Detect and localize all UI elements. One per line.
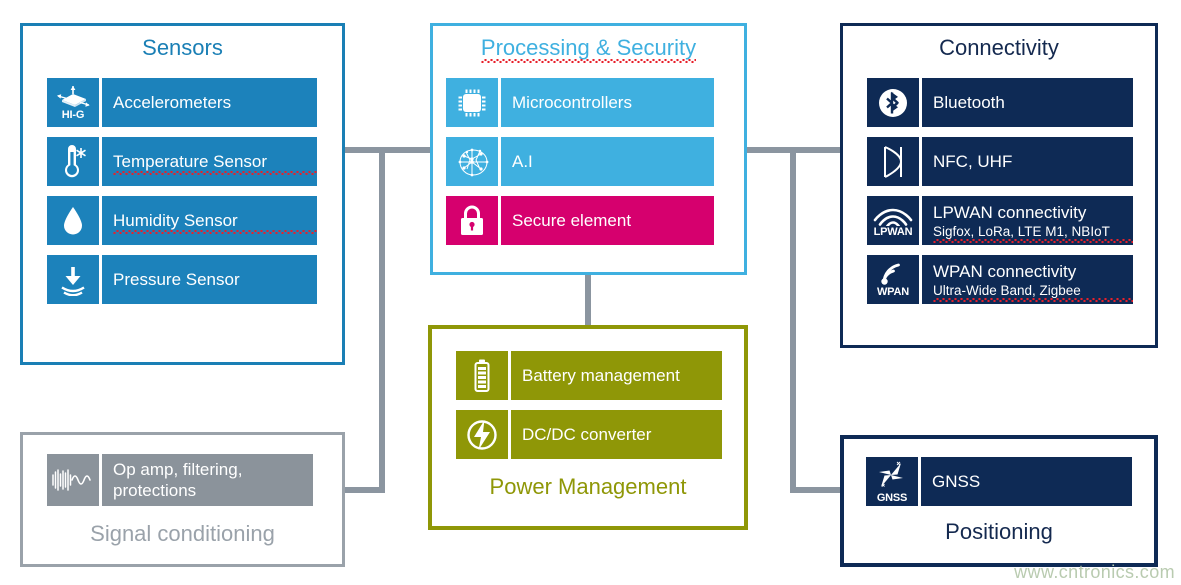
- sensors-title: Sensors: [142, 35, 223, 60]
- row-primary-label: Op amp, filtering,: [113, 459, 313, 480]
- row-primary-label: Pressure Sensor: [113, 269, 317, 290]
- processing-row-label: Microcontrollers: [501, 78, 714, 127]
- connector-processing-to-power: [585, 272, 591, 328]
- sensors-row-label: Pressure Sensor: [102, 255, 317, 304]
- sensors-row-label: Humidity Sensor: [102, 196, 317, 245]
- row-primary-label: Accelerometers: [113, 92, 317, 113]
- row-primary-label: Humidity Sensor: [113, 210, 317, 231]
- row-secondary-label: protections: [113, 480, 313, 501]
- connectivity-row-label: NFC, UHF: [922, 137, 1133, 186]
- row-primary-label: GNSS: [932, 471, 1132, 492]
- signal-row-opamp[interactable]: Op amp, filtering, protections: [47, 454, 313, 506]
- row-primary-label: Temperature Sensor: [113, 151, 317, 172]
- connectivity-row-wpan[interactable]: WPAN WPAN connectivity Ultra-Wide Band, …: [867, 255, 1133, 304]
- positioning-row-label: GNSS: [921, 457, 1132, 506]
- processing-row-ai[interactable]: A.I: [446, 137, 714, 186]
- signal-row-label: Op amp, filtering, protections: [102, 454, 313, 506]
- padlock-icon: [446, 196, 498, 245]
- row-primary-label: NFC, UHF: [933, 151, 1133, 172]
- row-secondary-label: Sigfox, LoRa, LTE M1, NBIoT: [933, 223, 1133, 240]
- row-primary-label: Bluetooth: [933, 92, 1133, 113]
- row-primary-label: Secure element: [512, 210, 714, 231]
- power-title: Power Management: [490, 474, 687, 499]
- sensors-row-label: Temperature Sensor: [102, 137, 317, 186]
- connectivity-group: Connectivity Bluetooth: [840, 23, 1158, 348]
- processing-row-label: Secure element: [501, 196, 714, 245]
- connectivity-row-lpwan[interactable]: LPWAN LPWAN connectivity Sigfox, LoRa, L…: [867, 196, 1133, 245]
- processing-title: Processing & Security: [481, 35, 696, 60]
- connector-to-signal-conditioning: [345, 487, 385, 493]
- compass-icon: GNSS: [866, 457, 918, 506]
- compass-icon-tag: GNSS: [877, 493, 907, 504]
- signal-waves-icon: WPAN: [867, 255, 919, 304]
- processing-security-group: Processing & Security: [430, 23, 747, 275]
- processing-row-microcontrollers[interactable]: Microcontrollers: [446, 78, 714, 127]
- lightning-bolt-icon: [456, 410, 508, 459]
- row-primary-label: Battery management: [522, 365, 722, 386]
- sensors-row-humidity[interactable]: Humidity Sensor: [47, 196, 317, 245]
- wifi-arcs-icon-tag: LPWAN: [874, 227, 913, 238]
- processing-row-secure-element[interactable]: Secure element: [446, 196, 714, 245]
- positioning-title: Positioning: [945, 519, 1053, 544]
- diagram-canvas: Sensors HI-G: [0, 0, 1181, 585]
- brain-network-icon: [446, 137, 498, 186]
- battery-icon: [456, 351, 508, 400]
- sensors-row-label: Accelerometers: [102, 78, 317, 127]
- thermometer-icon: [47, 137, 99, 186]
- connectivity-row-label: LPWAN connectivity Sigfox, LoRa, LTE M1,…: [922, 196, 1133, 245]
- row-primary-label: LPWAN connectivity: [933, 202, 1133, 223]
- water-drop-icon: [47, 196, 99, 245]
- sensors-row-pressure[interactable]: Pressure Sensor: [47, 255, 317, 304]
- signal-waves-icon-tag: WPAN: [877, 287, 909, 298]
- chip-icon: [446, 78, 498, 127]
- power-row-dcdc[interactable]: DC/DC converter: [456, 410, 722, 459]
- signal-conditioning-group: Op amp, filtering, protections Signal co…: [20, 432, 345, 567]
- connector-vertical-left-branch: [379, 147, 385, 493]
- nfc-icon: [867, 137, 919, 186]
- connector-vertical-right-branch: [790, 147, 796, 487]
- sensors-group: Sensors HI-G: [20, 23, 345, 365]
- row-secondary-label: Ultra-Wide Band, Zigbee: [933, 282, 1133, 299]
- site-watermark: www.cntronics.com: [1014, 562, 1175, 583]
- row-primary-label: Microcontrollers: [512, 92, 714, 113]
- sensors-row-accelerometers[interactable]: HI-G Accelerometers: [47, 78, 317, 127]
- positioning-row-gnss[interactable]: GNSS GNSS: [866, 457, 1132, 506]
- power-row-label: DC/DC converter: [511, 410, 722, 459]
- row-primary-label: A.I: [512, 151, 714, 172]
- pressure-arrow-icon: [47, 255, 99, 304]
- row-primary-label: WPAN connectivity: [933, 261, 1133, 282]
- wifi-arcs-icon: LPWAN: [867, 196, 919, 245]
- signal-title: Signal conditioning: [90, 521, 275, 546]
- sensors-row-temperature[interactable]: Temperature Sensor: [47, 137, 317, 186]
- connectivity-row-label: Bluetooth: [922, 78, 1133, 127]
- power-row-label: Battery management: [511, 351, 722, 400]
- power-management-group: Battery management DC/DC converter Power…: [428, 325, 748, 530]
- connectivity-title: Connectivity: [939, 35, 1059, 60]
- processing-row-label: A.I: [501, 137, 714, 186]
- bluetooth-icon: [867, 78, 919, 127]
- connectivity-row-bluetooth[interactable]: Bluetooth: [867, 78, 1133, 127]
- row-primary-label: DC/DC converter: [522, 424, 722, 445]
- power-row-battery[interactable]: Battery management: [456, 351, 722, 400]
- connector-to-positioning: [790, 487, 844, 493]
- connectivity-row-label: WPAN connectivity Ultra-Wide Band, Zigbe…: [922, 255, 1133, 304]
- connector-sensors-to-processing: [345, 147, 433, 153]
- waveform-icon: [47, 454, 99, 506]
- accelerometer-icon: HI-G: [47, 78, 99, 127]
- accelerometer-icon-tag: HI-G: [62, 110, 84, 121]
- positioning-group: GNSS GNSS Positioning: [840, 435, 1158, 567]
- connectivity-row-nfc[interactable]: NFC, UHF: [867, 137, 1133, 186]
